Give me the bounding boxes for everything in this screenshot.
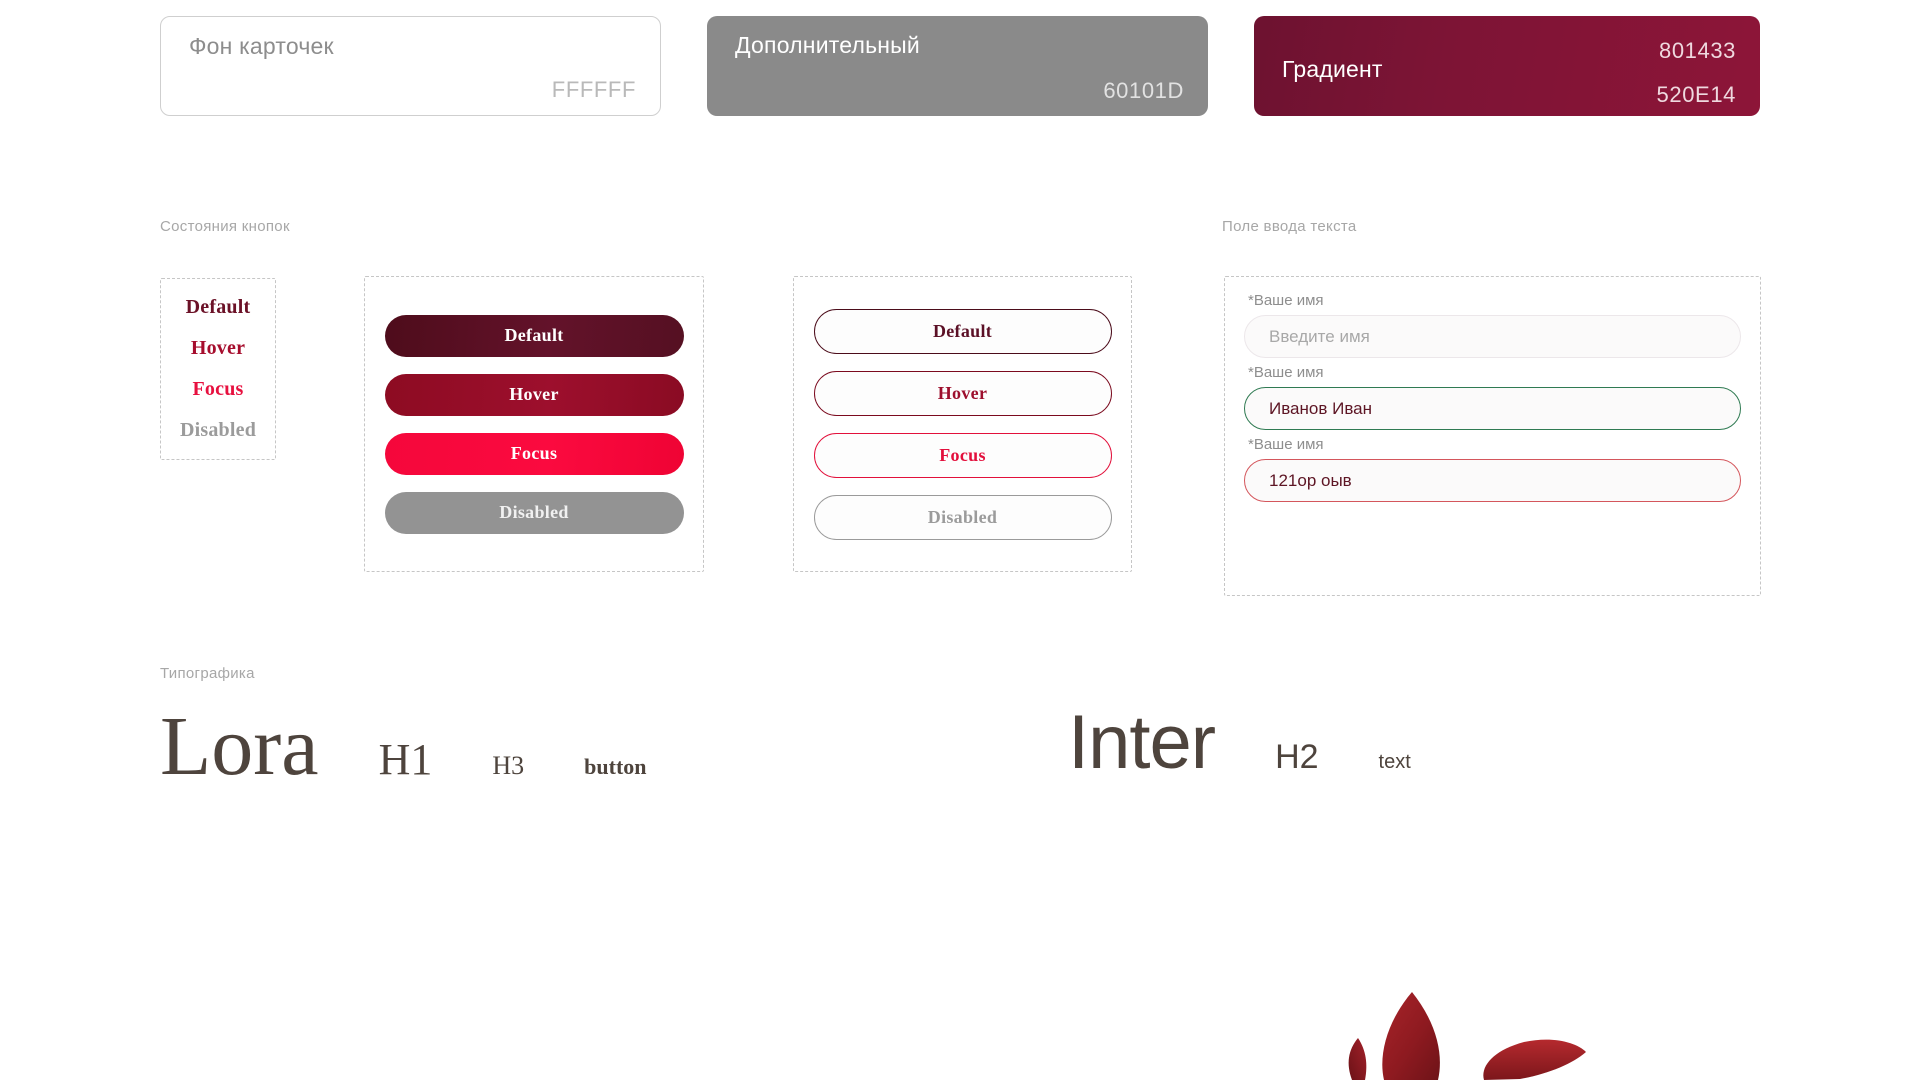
decorative-leaves <box>1280 950 1840 1080</box>
field-group-empty: *Ваше имя Введите имя <box>1244 292 1741 358</box>
filled-button-focus[interactable]: Focus <box>385 433 684 475</box>
swatch-gradient[interactable]: Градиент 801433 520E14 <box>1254 16 1760 116</box>
name-input-error[interactable]: 121ор оыв <box>1244 459 1741 502</box>
input-fields-group: *Ваше имя Введите имя *Ваше имя Иванов И… <box>1224 276 1761 596</box>
swatch-codes: FFFFFF <box>189 77 636 103</box>
typeface-name-serif: Lora <box>160 705 319 789</box>
type-sample-h1: H1 <box>379 734 433 785</box>
text-link-disabled: Disabled <box>180 419 256 442</box>
outline-buttons-group: Default Hover Focus Disabled <box>793 276 1132 572</box>
outline-button-hover[interactable]: Hover <box>814 371 1112 416</box>
field-placeholder: Введите имя <box>1269 327 1370 347</box>
typeface-name-sans: Inter <box>1068 705 1215 781</box>
field-label: *Ваше имя <box>1244 436 1741 453</box>
swatch-codes: 801433 520E14 <box>1657 38 1736 108</box>
field-group-error: *Ваше имя 121ор оыв <box>1244 436 1741 502</box>
swatch-secondary[interactable]: Дополнительный 60101D <box>707 16 1208 116</box>
text-link-hover[interactable]: Hover <box>191 337 245 360</box>
swatch-hex-code: FFFFFF <box>552 77 636 103</box>
field-label: *Ваше имя <box>1244 292 1741 309</box>
type-sample-text: text <box>1379 751 1411 774</box>
section-caption-typography: Типографика <box>160 665 255 682</box>
outline-button-default[interactable]: Default <box>814 309 1112 354</box>
swatch-title: Дополнительный <box>735 32 1184 59</box>
typography-sans-row: Inter H2 text <box>1068 705 1411 781</box>
ui-kit-canvas: Фон карточек FFFFFF Дополнительный 60101… <box>0 0 1920 1080</box>
swatch-title: Фон карточек <box>189 33 636 60</box>
field-value: 121ор оыв <box>1269 471 1352 491</box>
text-link-focus[interactable]: Focus <box>193 378 244 401</box>
swatch-codes: 60101D <box>735 78 1184 104</box>
typography-serif-row: Lora H1 H3 button <box>160 705 647 789</box>
outline-button-disabled: Disabled <box>814 495 1112 540</box>
swatch-title: Градиент <box>1282 56 1383 83</box>
color-swatch-row: Фон карточек FFFFFF Дополнительный 60101… <box>160 16 1760 116</box>
type-sample-button: button <box>584 754 646 780</box>
name-input-valid[interactable]: Иванов Иван <box>1244 387 1741 430</box>
field-group-valid: *Ваше имя Иванов Иван <box>1244 364 1741 430</box>
swatch-hex-code-start: 801433 <box>1659 38 1736 64</box>
filled-button-disabled: Disabled <box>385 492 684 534</box>
text-link-states-group: Default Hover Focus Disabled <box>160 278 276 460</box>
text-link-default[interactable]: Default <box>186 296 251 319</box>
field-label: *Ваше имя <box>1244 364 1741 381</box>
section-caption-input: Поле ввода текста <box>1222 218 1357 235</box>
outline-button-focus[interactable]: Focus <box>814 433 1112 478</box>
filled-button-default[interactable]: Default <box>385 315 684 357</box>
field-value: Иванов Иван <box>1269 399 1372 419</box>
swatch-hex-code-end: 520E14 <box>1657 82 1736 108</box>
type-sample-h3: H3 <box>492 751 524 781</box>
swatch-hex-code: 60101D <box>1103 78 1184 104</box>
name-input-empty[interactable]: Введите имя <box>1244 315 1741 358</box>
section-caption-buttons: Состояния кнопок <box>160 218 290 235</box>
filled-button-hover[interactable]: Hover <box>385 374 684 416</box>
type-sample-h2: H2 <box>1275 738 1318 777</box>
filled-buttons-group: Default Hover Focus Disabled <box>364 276 704 572</box>
swatch-card-background[interactable]: Фон карточек FFFFFF <box>160 16 661 116</box>
